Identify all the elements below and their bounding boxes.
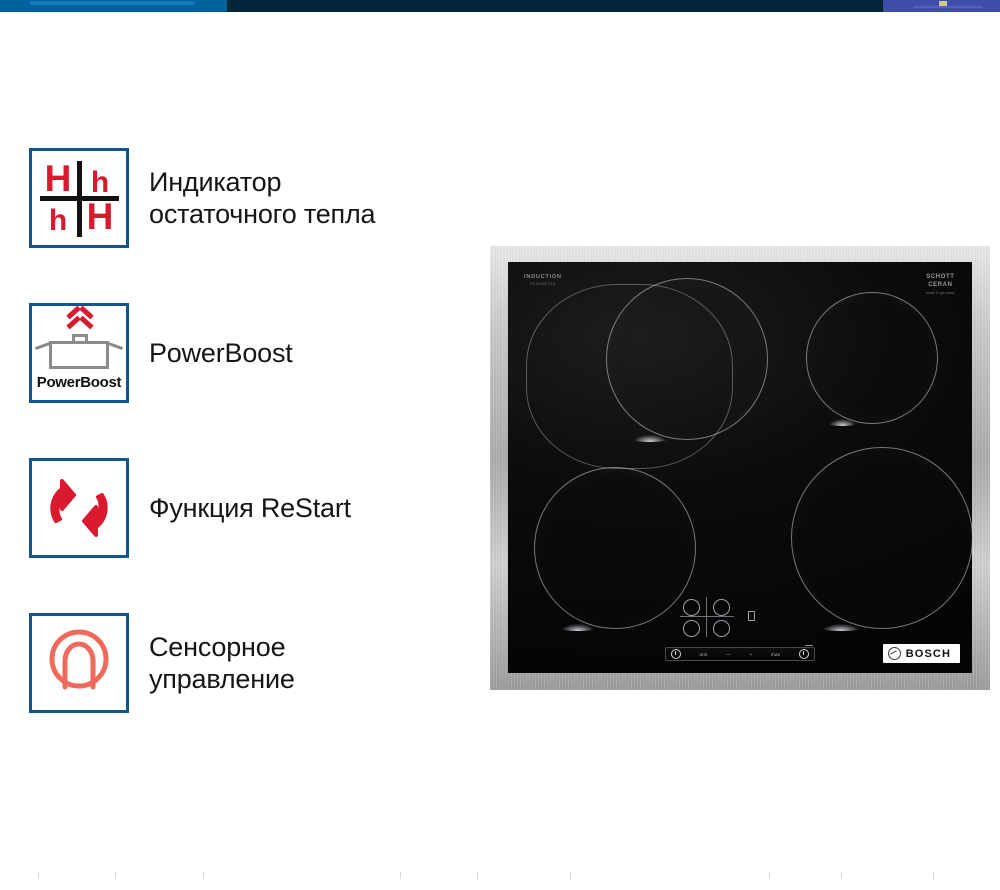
timer-icon[interactable] <box>799 649 809 659</box>
zone-grid-divider-horizontal <box>680 616 734 617</box>
top-strip-right-dot <box>939 1 947 6</box>
child-lock-icon[interactable] <box>748 611 755 621</box>
bottom-tick-9 <box>933 872 934 879</box>
fingertip-touch-icon <box>41 625 117 701</box>
top-strip-left-highlight <box>30 1 195 5</box>
power-on-off-icon[interactable] <box>671 649 681 659</box>
bottom-tick-1 <box>38 872 39 879</box>
feature-row-restart: Функция ReStart <box>29 456 469 560</box>
feature-label-powerboost: PowerBoost <box>149 337 293 369</box>
slider-label-min: min <box>700 652 708 657</box>
feature-row-powerboost: PowerBoost PowerBoost <box>29 301 469 405</box>
bottom-tick-2 <box>115 872 116 879</box>
cooktop-zone-front-right-glint <box>814 621 868 631</box>
top-strip-right-line <box>913 6 983 8</box>
slider-label-max: max <box>771 652 780 657</box>
residual-heat-char-bl: h <box>37 200 79 242</box>
cooktop-zone-rear-right <box>806 292 938 424</box>
zone-selector-front-right-icon[interactable] <box>713 620 730 637</box>
zone-selector-rear-left-icon[interactable] <box>683 599 700 616</box>
schott-ceran-label: SCHOTT CERAN made in germany <box>926 274 955 295</box>
feature-label-restart: Функция ReStart <box>149 492 351 524</box>
powerboost-icon: PowerBoost <box>29 303 129 403</box>
cooktop-zone-front-right <box>791 447 972 629</box>
zone-selector-grid[interactable] <box>683 599 731 635</box>
bottom-tick-5 <box>477 872 478 879</box>
bosch-wordmark: BOSCH <box>906 648 951 660</box>
residual-heat-divider-horizontal <box>40 196 119 201</box>
powerboost-icon-caption: PowerBoost <box>35 374 123 391</box>
bottom-tick-3 <box>203 872 204 879</box>
residual-heat-char-tl: H <box>37 158 79 200</box>
top-strip-left-segment <box>0 0 227 12</box>
feature-row-touch-control: Сенсорное управление <box>29 611 469 715</box>
cooktop-zone-front-left-glint <box>554 621 602 631</box>
feature-label-residual-heat: Индикатор остаточного тепла <box>149 166 375 230</box>
bottom-tick-7 <box>769 872 770 879</box>
zone-selector-rear-right-icon[interactable] <box>713 599 730 616</box>
bottom-tick-row <box>0 872 1000 882</box>
restart-icon <box>29 458 129 558</box>
cooktop-glass-surface: INDUCTION PXX645FC1E SCHOTT CERAN made i… <box>508 262 972 673</box>
bosch-logo: BOSCH <box>883 644 960 663</box>
pot-body-icon <box>49 341 109 369</box>
power-slider-bar[interactable]: min — + max <box>665 647 815 661</box>
control-panel-tick-mark <box>805 645 813 646</box>
bosch-emblem-icon <box>888 647 901 660</box>
slider-label-plus: + <box>750 652 753 657</box>
top-strip-right-segment <box>883 0 1000 12</box>
induction-label-text: INDUCTION <box>524 274 562 280</box>
feature-label-touch-control: Сенсорное управление <box>149 631 295 695</box>
cooktop-zone-rear-left <box>606 278 768 440</box>
bottom-tick-8 <box>841 872 842 879</box>
product-image-induction-cooktop: INDUCTION PXX645FC1E SCHOTT CERAN made i… <box>490 246 990 690</box>
zone-selector-front-left-icon[interactable] <box>683 620 700 637</box>
induction-label: INDUCTION PXX645FC1E <box>524 274 562 287</box>
bottom-tick-6 <box>570 872 571 879</box>
slider-label-minus: — <box>726 652 731 657</box>
touch-control-icon <box>29 613 129 713</box>
feature-row-residual-heat: H h h H Индикатор остаточного тепла <box>29 146 469 250</box>
cooktop-zone-rear-right-glint <box>823 416 862 426</box>
residual-heat-char-br: H <box>79 196 121 238</box>
residual-heat-indicator-icon: H h h H <box>29 148 129 248</box>
bottom-tick-4 <box>400 872 401 879</box>
top-chrome-strip <box>0 0 1000 12</box>
cooktop-control-panel[interactable]: min — + max <box>665 599 815 661</box>
schott-ceran-sub-text: made in germany <box>926 291 955 295</box>
cooktop-zone-rear-left-glint <box>626 432 674 442</box>
schott-ceran-text: SCHOTT CERAN <box>926 274 954 288</box>
restart-arrows-icon <box>40 469 118 547</box>
zone-grid-divider-vertical <box>706 597 707 637</box>
induction-model-text: PXX645FC1E <box>524 282 562 287</box>
